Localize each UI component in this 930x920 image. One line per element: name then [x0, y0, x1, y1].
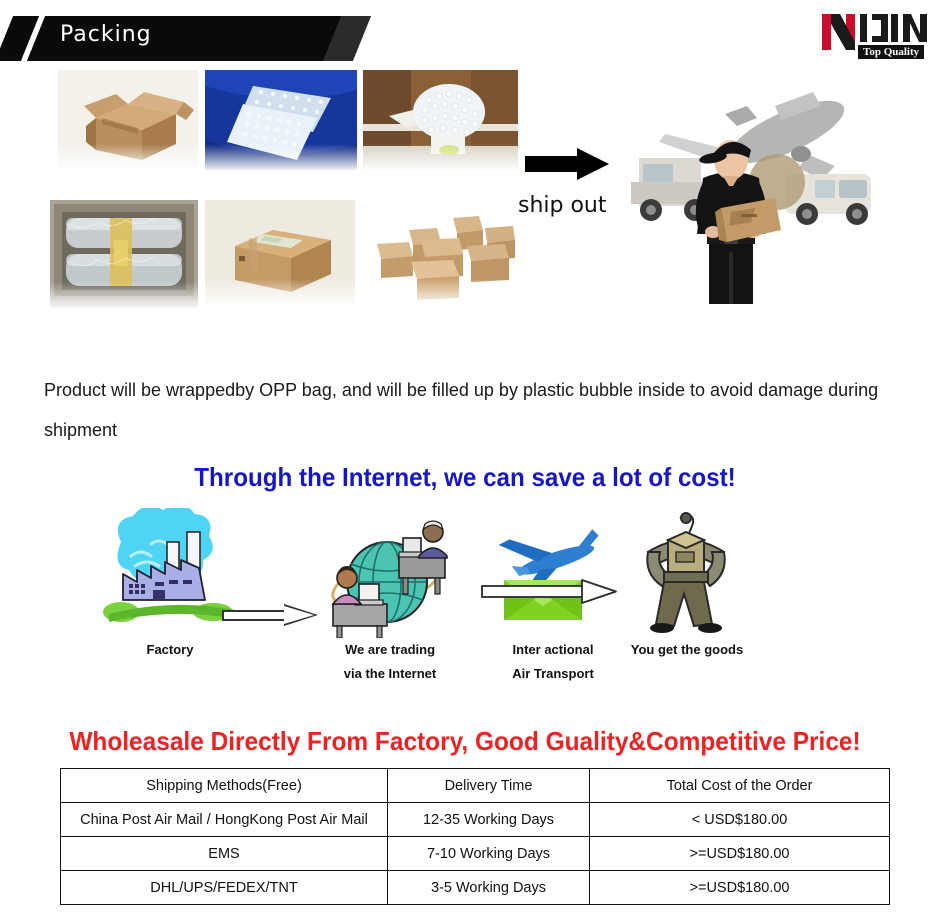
- internet-savings-heading: Through the Internet, we can save a lot …: [33, 462, 898, 493]
- page-title: Packing: [60, 22, 152, 47]
- ship-out-label: ship out: [518, 193, 607, 218]
- globe-trading-icon: [315, 508, 465, 638]
- arrow-shaft: [222, 610, 288, 621]
- packing-photo-stack-of-boxes: [363, 200, 523, 305]
- table-cell-cost: >=USD$180.00: [590, 871, 890, 905]
- process-step-label-line2: Air Transport: [478, 662, 628, 686]
- process-step-air-transport: Inter actional Air Transport: [478, 508, 628, 686]
- table-cell-method: EMS: [61, 837, 388, 871]
- packing-photo-open-carton-box: [58, 70, 198, 170]
- arrow-head-fill: [284, 606, 314, 624]
- process-step-label-line2: via the Internet: [315, 662, 465, 686]
- photo-reflection: [58, 144, 198, 170]
- process-arrow-1-icon: [222, 604, 318, 626]
- packing-photo-bubble-wrap-roll: [363, 70, 518, 170]
- photo-reflection: [363, 279, 523, 305]
- brand-logo: Top Quality: [820, 12, 928, 60]
- table-row: EMS 7-10 Working Days >=USD$180.00: [61, 837, 890, 871]
- table-cell-cost: < USD$180.00: [590, 803, 890, 837]
- process-step-label: You get the goods: [612, 638, 762, 662]
- delivery-courier-illustration: [625, 62, 925, 312]
- packing-photo-wrapped-goods-in-box: [50, 200, 198, 308]
- table-header-shipping-methods: Shipping Methods(Free): [61, 769, 388, 803]
- process-step-label-line1: Inter actional: [478, 638, 628, 662]
- logo-tagline: Top Quality: [858, 45, 924, 59]
- table-header-delivery-time: Delivery Time: [388, 769, 590, 803]
- page-header: Packing Top Quality: [0, 0, 930, 62]
- photo-reflection: [205, 279, 355, 305]
- process-step-label-line1: We are trading: [315, 638, 465, 662]
- packing-photo-bubble-sheets-blue: [205, 70, 357, 170]
- table-cell-cost: >=USD$180.00: [590, 837, 890, 871]
- airplane-envelope-icon: [478, 508, 628, 638]
- table-cell-delivery: 12-35 Working Days: [388, 803, 590, 837]
- process-step-factory: Factory: [95, 508, 245, 662]
- packing-description-text: Product will be wrappedby OPP bag, and w…: [44, 370, 884, 450]
- table-row: China Post Air Mail / HongKong Post Air …: [61, 803, 890, 837]
- table-row: DHL/UPS/FEDEX/TNT 3-5 Working Days >=USD…: [61, 871, 890, 905]
- table-cell-method: China Post Air Mail / HongKong Post Air …: [61, 803, 388, 837]
- table-header-row: Shipping Methods(Free) Delivery Time Tot…: [61, 769, 890, 803]
- table-header-total-cost: Total Cost of the Order: [590, 769, 890, 803]
- process-step-label: Factory: [95, 638, 245, 662]
- shipping-methods-table: Shipping Methods(Free) Delivery Time Tot…: [60, 768, 890, 905]
- arrow-head: [577, 148, 609, 180]
- ship-out-arrow-icon: [525, 148, 615, 178]
- table-cell-delivery: 7-10 Working Days: [388, 837, 590, 871]
- photo-reflection: [50, 282, 198, 308]
- process-flow-diagram: Factory: [0, 508, 930, 708]
- process-step-internet-trading: We are trading via the Internet: [315, 508, 465, 686]
- customer-receiving-goods-icon: [612, 508, 762, 638]
- table-cell-method: DHL/UPS/FEDEX/TNT: [61, 871, 388, 905]
- wholesale-heading: Wholeasale Directly From Factory, Good G…: [28, 726, 902, 757]
- table-cell-delivery: 3-5 Working Days: [388, 871, 590, 905]
- process-step-customer-receives: You get the goods: [612, 508, 762, 662]
- photo-reflection: [205, 144, 357, 170]
- photo-reflection: [363, 144, 518, 170]
- packing-photo-sealed-carton-box: [205, 200, 355, 305]
- arrow-shaft: [525, 156, 581, 172]
